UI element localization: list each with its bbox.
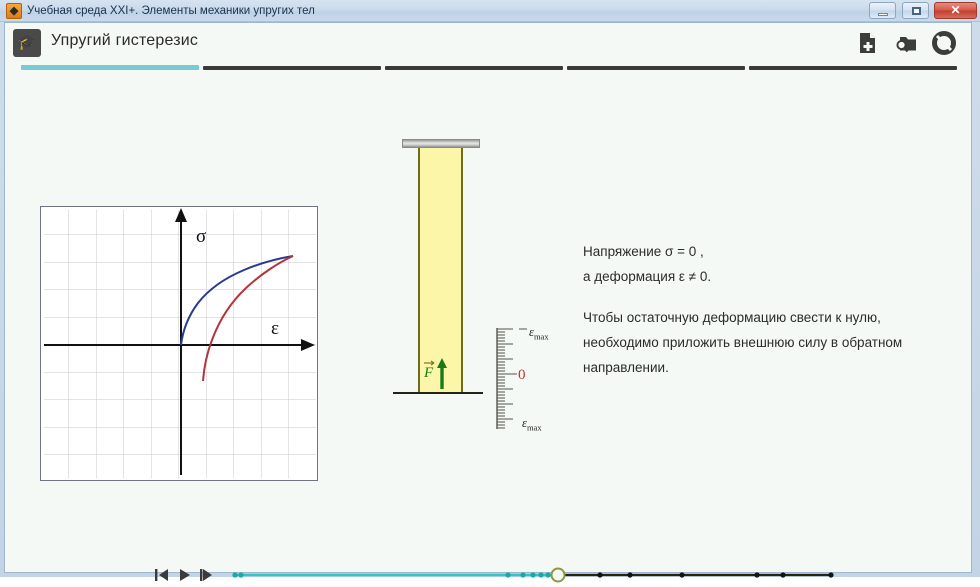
window-controls: ✕: [868, 2, 977, 20]
tab-3[interactable]: [385, 66, 563, 70]
ruler-zero-label: 0: [518, 367, 526, 384]
explanation-line-4: необходимо приложить внешнюю силу в обра…: [583, 330, 955, 355]
explanation-line-1: Напряжение σ = 0 ,: [583, 239, 955, 264]
tab-5[interactable]: [749, 66, 957, 70]
maximize-icon: [912, 7, 921, 15]
step-forward-button[interactable]: [198, 567, 216, 583]
force-arrow: F: [423, 355, 459, 391]
title-bar: ◆ Учебная среда XXI+. Элементы механики …: [0, 0, 980, 22]
step-back-button[interactable]: [153, 567, 171, 583]
page-title: Упругий гистерезис: [51, 32, 198, 50]
explanation-line-5: направлении.: [583, 355, 955, 380]
explanation-line-2: а деформация ε ≠ 0.: [583, 264, 955, 289]
window-title: Учебная среда XXI+. Элементы механики уп…: [27, 3, 315, 19]
explanation-text: Напряжение σ = 0 , а деформация ε ≠ 0. Ч…: [583, 239, 955, 380]
tab-4[interactable]: [567, 66, 745, 70]
close-icon: ✕: [935, 3, 976, 18]
ruler-top-subscript: max: [534, 332, 549, 342]
open-search-button[interactable]: [893, 30, 919, 56]
help-button[interactable]: [931, 30, 957, 56]
application-window: ◆ Учебная среда XXI+. Элементы механики …: [0, 0, 980, 577]
close-button[interactable]: ✕: [934, 2, 977, 19]
maximize-button[interactable]: [902, 2, 929, 19]
tab-2[interactable]: [203, 66, 381, 70]
minimize-icon: [878, 13, 888, 16]
app-logo-glyph: ◆: [7, 3, 21, 19]
force-label: F: [423, 365, 434, 381]
app-logo-icon: ◆: [6, 3, 22, 19]
support-plate: [402, 139, 480, 148]
ruler-bottom-subscript: max: [527, 423, 542, 433]
client-area: 🎓 Упругий гистерезис: [4, 22, 972, 573]
ruler-top-label: εmax: [529, 325, 549, 342]
x-axis-label: ε: [271, 318, 279, 339]
tab-1[interactable]: [21, 65, 199, 70]
explanation-line-3: Чтобы остаточную деформацию свести к нул…: [583, 305, 955, 330]
new-document-button[interactable]: [855, 30, 881, 56]
reference-line: [393, 392, 483, 394]
stress-strain-chart: σ ε: [40, 206, 318, 481]
timeline-slider[interactable]: [230, 563, 840, 587]
graduation-cap-icon: 🎓: [13, 29, 41, 57]
y-axis-label: σ: [196, 226, 206, 247]
play-button[interactable]: [176, 567, 194, 583]
graduation-cap-glyph: 🎓: [16, 35, 38, 51]
minimize-button[interactable]: [869, 2, 896, 19]
ruler-bottom-label: εmax: [522, 416, 542, 433]
tab-strip: [21, 64, 957, 72]
